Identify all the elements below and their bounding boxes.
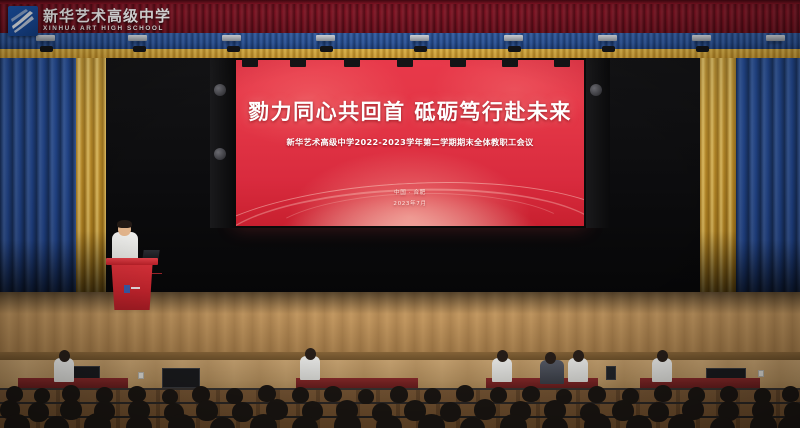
school-watermark: 新华艺术高级中学 XINHUA ART HIGH SCHOOL (8, 6, 171, 36)
pillar-speaker-left-1 (214, 84, 226, 96)
stage-drape-gold-left (76, 49, 106, 301)
official-head-3 (497, 350, 508, 362)
podium-school-logo-icon (124, 285, 140, 293)
gold-valance-band (0, 49, 800, 58)
meeting-date: 2023年7月 (236, 199, 584, 207)
wall-switch-plate-2 (758, 370, 764, 377)
pillar-speaker-left-2 (214, 148, 226, 160)
screen-top-speaker-strip (234, 58, 586, 67)
school-name-block: 新华艺术高级中学 XINHUA ART HIGH SCHOOL (43, 9, 171, 32)
official-head-6 (657, 350, 668, 362)
school-name-en: XINHUA ART HIGH SCHOOL (43, 26, 171, 32)
stage-led-screen: 勠力同心共回首 砥砺笃行赴未来 新华艺术高级中学2022-2023学年第二学期期… (234, 58, 586, 228)
meeting-location: 中国 · 合肥 (236, 188, 584, 196)
stage-pillar-left (210, 58, 234, 228)
auditorium-photo: 勠力同心共回首 砥砺笃行赴未来 新华艺术高级中学2022-2023学年第二学期期… (0, 0, 800, 428)
official-head-1 (59, 350, 70, 362)
wall-switch-plate-1 (138, 372, 144, 379)
podium-top-surface (106, 258, 158, 265)
wall-panel-4 (606, 366, 616, 380)
stage-pillar-right (586, 58, 610, 228)
presenter-hair (117, 220, 132, 228)
meeting-slogan-title: 勠力同心共回首 砥砺笃行赴未来 (236, 96, 584, 126)
official-head-5 (573, 350, 584, 362)
meeting-subtitle: 新华艺术高级中学2022-2023学年第二学期期末全体教职工会议 (236, 136, 584, 148)
school-swoosh-logo-icon (8, 6, 38, 36)
pillar-speaker-right-1 (590, 84, 602, 96)
official-head-4 (545, 352, 556, 364)
stage-drape-gold-right (700, 49, 736, 301)
official-head-2 (305, 348, 316, 360)
led-screen-surface: 勠力同心共回首 砥砺笃行赴未来 新华艺术高级中学2022-2023学年第二学期期… (236, 60, 584, 226)
wall-panel-2 (162, 368, 200, 388)
school-name-cn: 新华艺术高级中学 (43, 9, 171, 24)
